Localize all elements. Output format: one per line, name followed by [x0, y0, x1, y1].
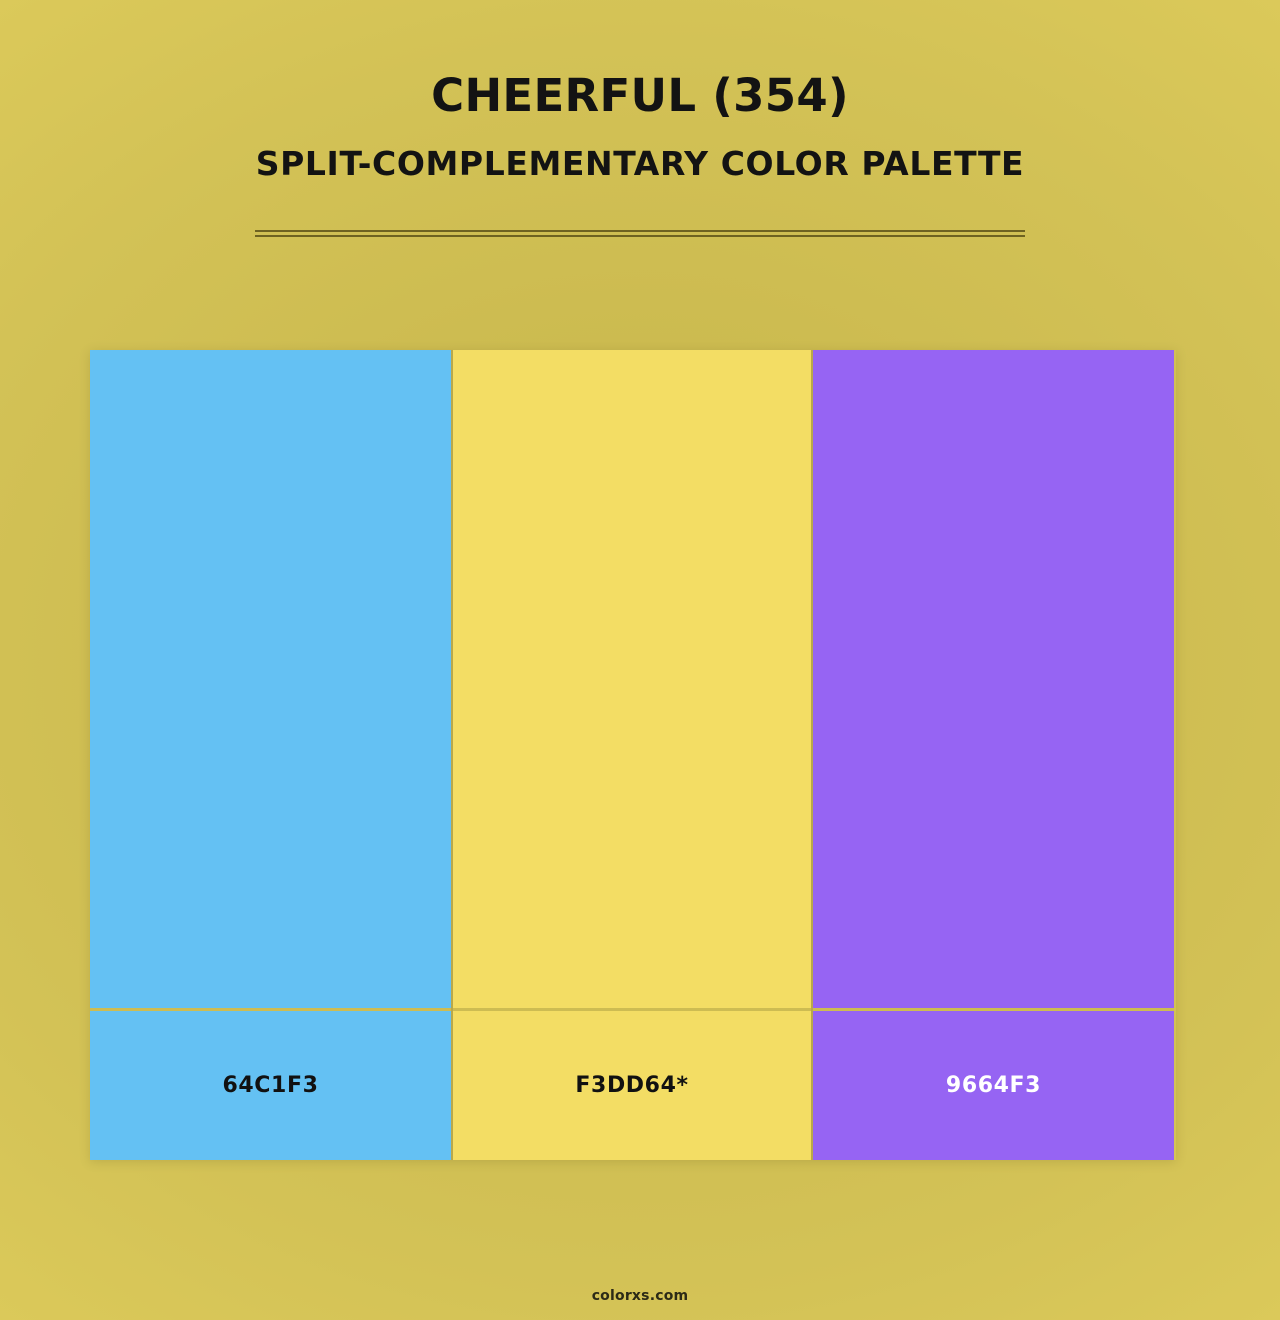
swatch-hex-label-1: 64C1F3 — [222, 1073, 318, 1098]
color-swatch-1[interactable] — [90, 350, 451, 1008]
divider-line-top — [255, 230, 1025, 232]
page-footer: colorxs.com — [0, 1285, 1280, 1304]
color-swatch-3[interactable] — [813, 350, 1174, 1008]
page-title: CHEERFUL (354) — [0, 0, 1280, 119]
header-divider — [255, 230, 1025, 237]
page-header: CHEERFUL (354) SPLIT-COMPLEMENTARY COLOR… — [0, 0, 1280, 182]
swatch-label-band-1: 64C1F3 — [90, 1011, 451, 1160]
swatch-label-band-3: 9664F3 — [813, 1011, 1174, 1160]
swatch-column-1[interactable]: 64C1F3 — [90, 350, 451, 1160]
swatch-column-3[interactable]: 9664F3 — [813, 350, 1174, 1160]
page-subtitle: SPLIT-COMPLEMENTARY COLOR PALETTE — [0, 119, 1280, 182]
swatch-label-band-2: F3DD64* — [453, 1011, 811, 1160]
site-credit: colorxs.com — [592, 1288, 689, 1304]
palette-card: 64C1F3 F3DD64* 9664F3 — [90, 350, 1176, 1160]
swatch-column-2[interactable]: F3DD64* — [451, 350, 813, 1160]
swatch-hex-label-2: F3DD64* — [575, 1073, 688, 1098]
palette-page: CHEERFUL (354) SPLIT-COMPLEMENTARY COLOR… — [0, 0, 1280, 1320]
swatch-hex-label-3: 9664F3 — [946, 1073, 1041, 1098]
color-swatch-2[interactable] — [453, 350, 811, 1008]
divider-line-bottom — [255, 235, 1025, 237]
